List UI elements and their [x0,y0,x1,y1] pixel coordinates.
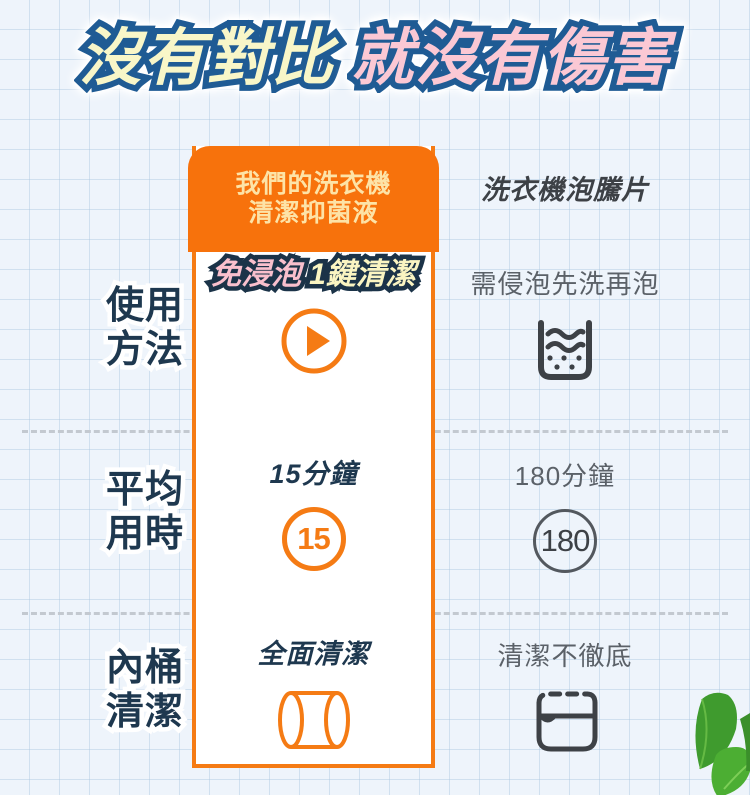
cell-b-usage-method-text: 需侵泡先洗再泡 [440,264,690,301]
badge-one-key-clean: 1鍵清潔 [309,258,416,291]
cell-a-drum-cleaning: 全面清潔 [192,632,435,753]
row-label-drum-cleaning: 內桶 清潔 [4,646,184,734]
row-label-average-time: 平均 用時 [4,468,184,556]
column-a-header-line-1: 我們的洗衣機 [235,170,391,200]
cell-b-usage-method: 需侵泡先洗再泡 [440,264,690,383]
page-title: 沒有對比就沒有傷害 [0,28,750,90]
row-label-usage-method-line-1: 使用 [4,284,184,328]
badge-no-soak: 免浸泡 [211,258,301,291]
drum-full-icon [271,687,357,753]
cell-b-average-time-icon-slot: 180 [440,509,690,573]
cell-a-average-time: 15分鐘 15 [192,452,435,571]
minutes-circle-icon: 15 [282,507,346,571]
cell-a-usage-method: 免浸泡1鍵清潔 [192,258,435,375]
cell-a-drum-cleaning-icon-slot [192,687,435,753]
column-a-header-line-2: 清潔抑菌液 [248,199,378,229]
cell-b-usage-method-icon-slot [440,317,690,383]
cell-a-average-time-icon-slot: 15 [192,507,435,571]
play-circle-icon [280,307,348,375]
row-label-average-time-line-2: 用時 [4,512,184,556]
column-b-header: 洗衣機泡騰片 [440,168,690,207]
cell-b-average-time-text: 180分鐘 [440,456,690,493]
cell-a-average-time-heading: 15分鐘 [192,452,435,491]
row-label-usage-method: 使用 方法 [4,284,184,372]
minutes-circle-icon: 180 [533,509,597,573]
cell-b-drum-cleaning-text: 清潔不徹底 [440,636,690,673]
cell-b-average-time: 180分鐘 180 [440,456,690,573]
row-label-drum-cleaning-line-1: 內桶 [4,646,184,690]
row-label-average-time-line-1: 平均 [4,468,184,512]
row-label-drum-cleaning-line-2: 清潔 [4,690,184,734]
column-a-header: 我們的洗衣機 清潔抑菌液 [188,146,439,252]
green-leaves-decoration [590,685,750,795]
page-title-part-2: 就沒有傷害 [351,28,671,90]
row-label-usage-method-line-2: 方法 [4,328,184,372]
page-title-part-1: 沒有對比 [79,28,335,90]
soak-basin-icon [530,317,600,383]
usage-method-badges: 免浸泡1鍵清潔 [192,258,435,291]
cell-a-drum-cleaning-heading: 全面清潔 [192,632,435,671]
usage-method-icon-slot [192,307,435,375]
